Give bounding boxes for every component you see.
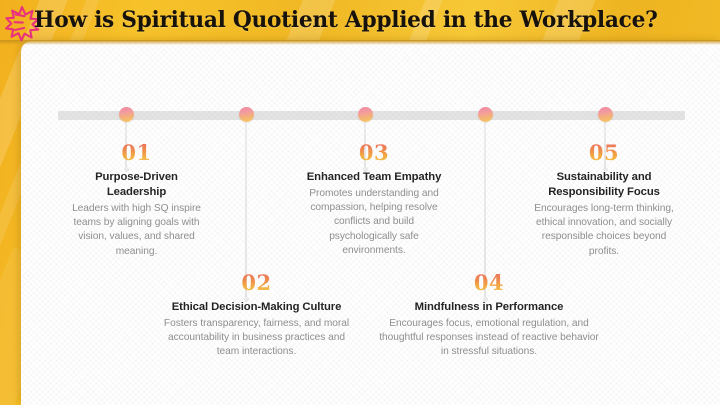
timeline-rail (58, 111, 685, 120)
entry-description: Promotes understanding and compassion, h… (300, 187, 448, 258)
timeline-dot (598, 107, 613, 122)
timeline-dot (358, 107, 373, 122)
entry-title: Ethical Decision-Making Culture (158, 300, 355, 315)
entry-number: 02 (158, 272, 355, 293)
page-header: How is Spiritual Quotient Applied in the… (0, 0, 720, 40)
timeline-entry-5: 05 Sustainability and Responsibility Foc… (529, 142, 679, 259)
page-title: How is Spiritual Quotient Applied in the… (34, 9, 658, 32)
entry-title: Purpose-Driven Leadership (65, 170, 208, 200)
entry-title: Mindfulness in Performance (378, 300, 600, 315)
timeline-dot (478, 107, 493, 122)
entry-number: 05 (529, 142, 679, 163)
timeline-dot (239, 107, 254, 122)
entry-description: Fosters transparency, fairness, and mora… (158, 317, 355, 360)
timeline-entry-1: 01 Purpose-Driven Leadership Leaders wit… (65, 142, 208, 259)
timeline-entry-4: 04 Mindfulness in Performance Encourages… (378, 272, 600, 360)
entry-description: Leaders with high SQ inspire teams by al… (65, 202, 208, 259)
entry-title: Sustainability and Responsibility Focus (529, 170, 679, 200)
header-divider (0, 40, 720, 45)
content-card: 01 Purpose-Driven Leadership Leaders wit… (21, 41, 720, 405)
entry-number: 03 (300, 142, 448, 163)
entry-number: 01 (65, 142, 208, 163)
timeline-dot (119, 107, 134, 122)
timeline-entry-3: 03 Enhanced Team Empathy Promotes unders… (300, 142, 448, 258)
timeline-entry-2: 02 Ethical Decision-Making Culture Foste… (158, 272, 355, 360)
entry-number: 04 (378, 272, 600, 293)
entry-description: Encourages focus, emotional regulation, … (378, 317, 600, 360)
entry-description: Encourages long-term thinking, ethical i… (529, 202, 679, 259)
entry-title: Enhanced Team Empathy (300, 170, 448, 185)
